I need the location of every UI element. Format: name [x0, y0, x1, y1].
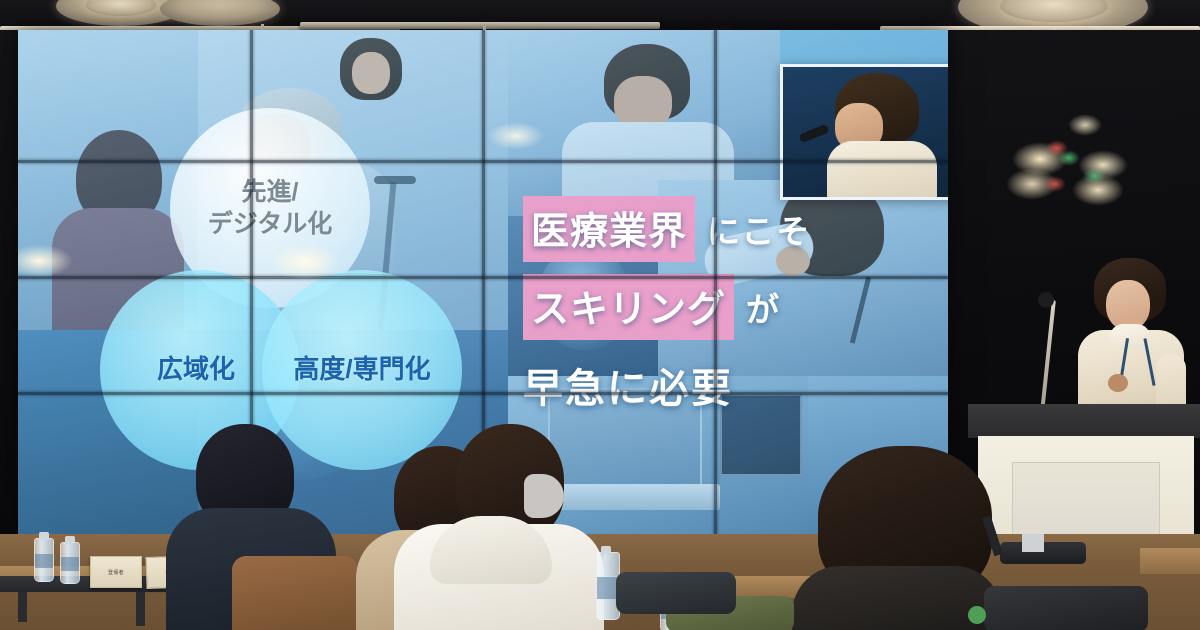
name-placard-1-text: 登壇者 — [108, 569, 124, 576]
headline-plain-3: 早急に必要 — [523, 356, 733, 414]
camera-bag-podium — [984, 586, 1148, 630]
headline-text-1: 医療業界 — [531, 211, 687, 253]
feed-speaker-body — [827, 141, 937, 197]
venn-left-label: 広域化 — [157, 353, 235, 386]
microphone-head — [1038, 292, 1054, 308]
presenter-hand — [1108, 374, 1128, 392]
back-wall-left-strip — [0, 30, 20, 542]
bag-dark — [616, 572, 736, 614]
venn-circle-right: 高度/専門化 — [262, 270, 462, 470]
venn-right-label: 高度/専門化 — [293, 353, 430, 386]
photo-figure-woman — [340, 38, 402, 100]
light-track-center — [300, 22, 660, 29]
podium-top — [968, 404, 1200, 438]
photo-figure-woman-face — [352, 52, 390, 94]
bottle-cap-green — [968, 606, 986, 624]
speaker-camera-feed — [780, 64, 948, 200]
headline-highlight-2: スキリング — [523, 274, 734, 340]
screenshot-root: 先進/ デジタル化 広域化 高度/専門化 医療業界 にこそ — [0, 0, 1200, 630]
bezel-horizontal-2 — [18, 276, 948, 279]
water-bottle-table-1 — [34, 538, 54, 582]
headline-line-3: 早急に必要 — [523, 356, 943, 414]
headline-line-2: スキリング が — [523, 274, 943, 340]
bench-right — [1140, 548, 1200, 574]
headline-plain-2: が — [746, 283, 781, 331]
table-leg-1 — [136, 592, 145, 626]
name-placard-1: 登壇者 — [90, 556, 142, 588]
photo-wheelchair-handle — [374, 176, 416, 184]
photo-figure-nurse — [76, 130, 162, 226]
headline-highlight-1: 医療業界 — [523, 196, 695, 262]
venn-top-line2: デジタル化 — [208, 208, 333, 240]
photo-doctor-hair — [604, 44, 690, 120]
chair-back-left — [232, 556, 358, 630]
bezel-horizontal-1 — [18, 160, 948, 163]
presenter — [1072, 258, 1190, 428]
water-bottle-table-2 — [60, 542, 80, 584]
bezel-vertical-3 — [714, 30, 717, 542]
feed-microphone — [798, 124, 829, 144]
photo-doctor-face — [614, 76, 672, 130]
table-leg-2 — [18, 592, 27, 622]
headline-line-1: 医療業界 にこそ — [523, 196, 943, 262]
venn-top-line1: 先進/ — [208, 176, 333, 208]
headline-text-2: スキリング — [531, 289, 726, 331]
camera-lens — [1022, 534, 1044, 552]
headline-plain-1: にこそ — [707, 205, 811, 253]
bezel-horizontal-3 — [18, 392, 948, 395]
